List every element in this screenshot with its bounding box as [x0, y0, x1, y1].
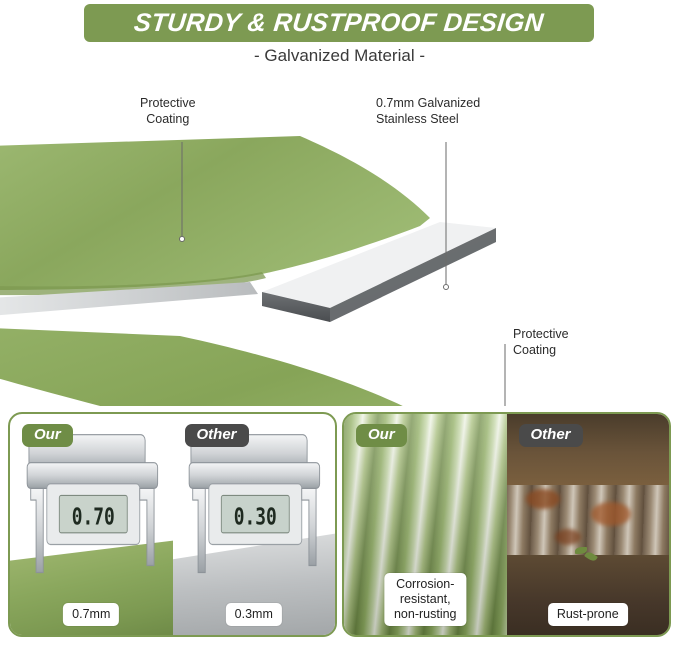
svg-text:0.30: 0.30 — [234, 503, 277, 530]
corrosion-comparison-group: Our Corrosion-resistant, non-rusting Oth… — [342, 412, 671, 637]
caption-other-thickness: 0.3mm — [226, 603, 282, 626]
callout-protective-coating-bottom: Protective Coating — [513, 327, 569, 358]
tag-our: Our — [22, 424, 73, 447]
page-title: STURDY & RUSTPROOF DESIGN — [133, 9, 545, 38]
title-banner: STURDY & RUSTPROOF DESIGN — [84, 4, 594, 42]
tag-other: Other — [185, 424, 249, 447]
cell-other-corrosion: Other Rust-prone — [507, 414, 670, 635]
caption-our-thickness: 0.7mm — [63, 603, 119, 626]
tag-other: Other — [519, 424, 583, 447]
photo-caliper-other: 0.30 — [173, 414, 336, 635]
rust-patch — [526, 489, 560, 509]
caliper-icon: 0.30 — [182, 423, 325, 587]
cell-our-corrosion: Our Corrosion-resistant, non-rusting — [344, 414, 507, 635]
rust-patch — [555, 529, 581, 545]
layer-exploded-view — [0, 76, 679, 406]
caliper-icon: 0.70 — [20, 423, 163, 587]
comparison-panels: 0.70 Our 0.7mm — [0, 412, 679, 645]
tag-our: Our — [356, 424, 407, 447]
photo-rusted-panel — [507, 414, 670, 635]
svg-text:0.70: 0.70 — [72, 503, 115, 530]
caption-other-corrosion: Rust-prone — [548, 603, 628, 626]
hero-diagram: Protective Coating 0.7mm Galvanized Stai… — [0, 76, 679, 406]
caption-our-corrosion: Corrosion-resistant, non-rusting — [385, 573, 466, 626]
callout-steel-core: 0.7mm Galvanized Stainless Steel — [376, 96, 480, 127]
photo-caliper-our: 0.70 — [10, 414, 173, 635]
subtitle: - Galvanized Material - — [0, 46, 679, 66]
cell-our-thickness: 0.70 Our 0.7mm — [10, 414, 173, 635]
callout-protective-coating-top: Protective Coating — [140, 96, 196, 127]
header: STURDY & RUSTPROOF DESIGN - Galvanized M… — [0, 0, 679, 76]
thickness-comparison-group: 0.70 Our 0.7mm — [8, 412, 337, 637]
cell-other-thickness: 0.30 Other 0.3mm — [173, 414, 336, 635]
